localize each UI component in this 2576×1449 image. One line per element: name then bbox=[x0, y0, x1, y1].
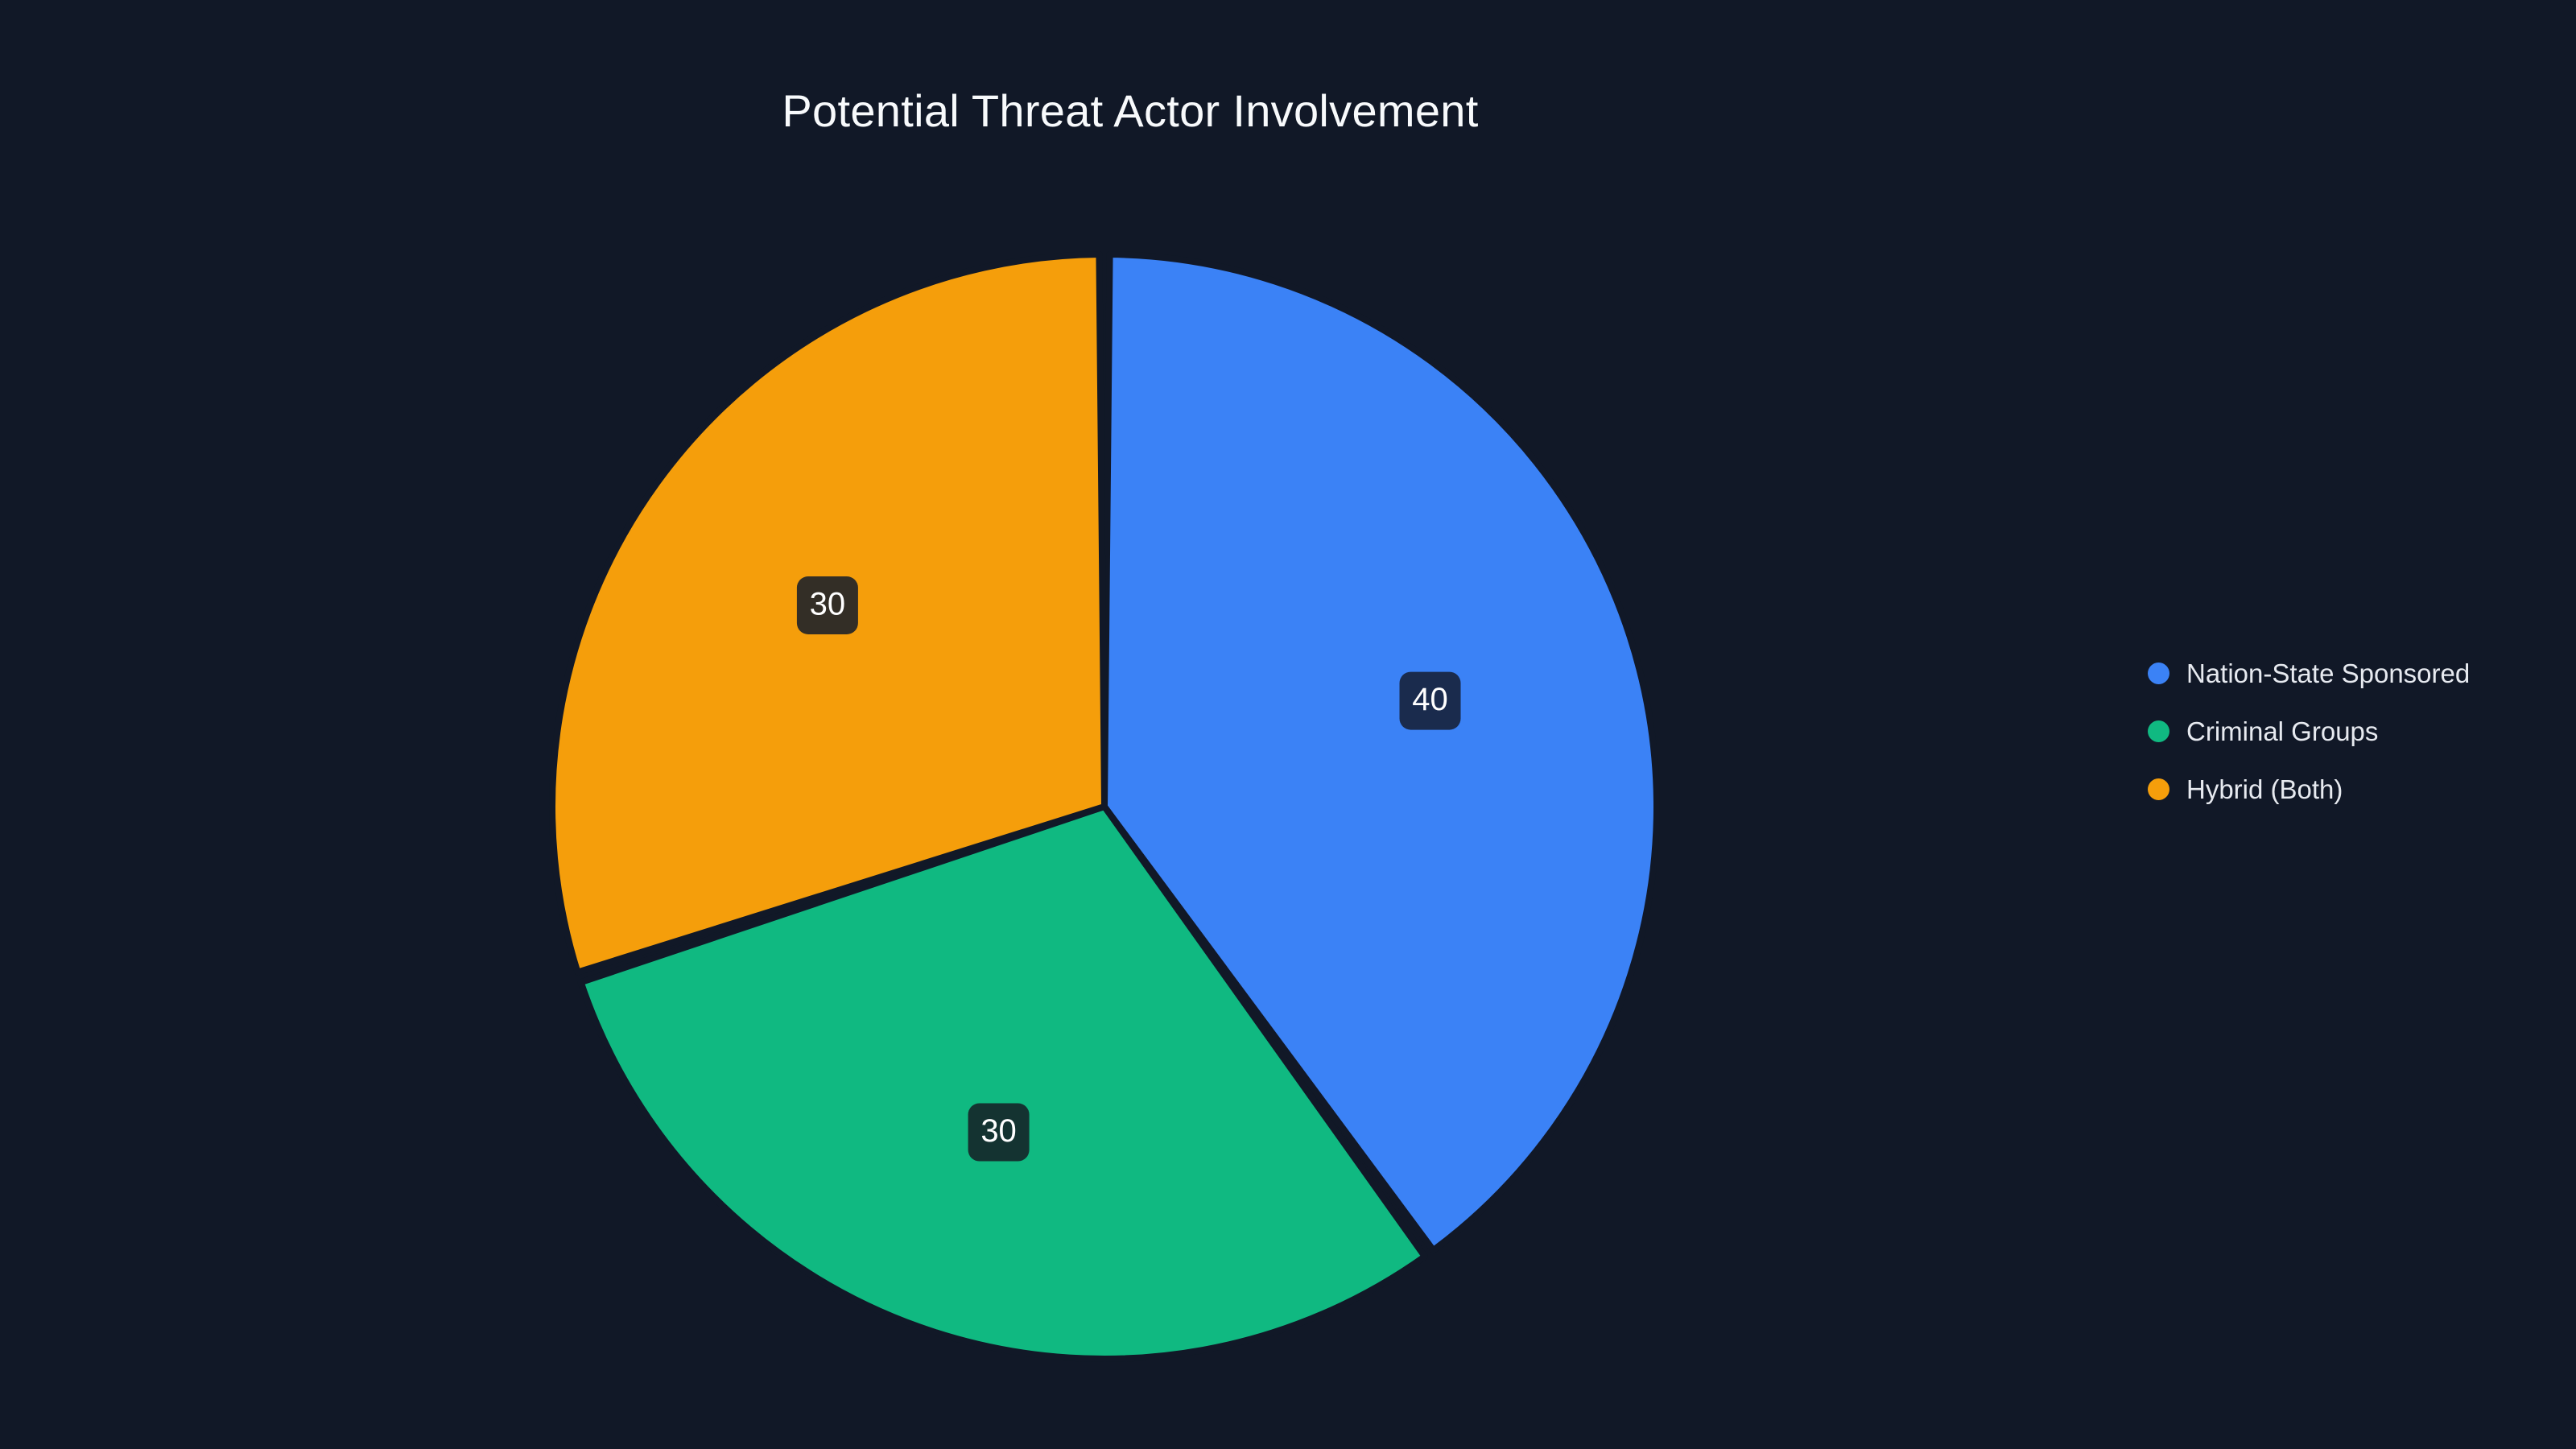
legend-swatch-icon bbox=[2148, 778, 2169, 800]
pie-chart-figure: Potential Threat Actor Involvement 40303… bbox=[0, 0, 2576, 1449]
legend-item-label: Nation-State Sponsored bbox=[2186, 660, 2470, 687]
slice-data-label: 30 bbox=[968, 1104, 1030, 1162]
legend-item-label: Criminal Groups bbox=[2186, 718, 2378, 745]
pie-slices bbox=[552, 254, 1657, 1359]
slice-label-text: 30 bbox=[810, 587, 846, 622]
chart-legend: Nation-State Sponsored Criminal Groups H… bbox=[2148, 644, 2470, 818]
legend-item-hybrid[interactable]: Hybrid (Both) bbox=[2148, 760, 2470, 818]
legend-item-nation-state[interactable]: Nation-State Sponsored bbox=[2148, 644, 2470, 702]
legend-item-criminal-groups[interactable]: Criminal Groups bbox=[2148, 702, 2470, 760]
slice-data-label: 30 bbox=[797, 576, 858, 634]
slice-data-label: 40 bbox=[1400, 672, 1461, 730]
legend-swatch-icon bbox=[2148, 663, 2169, 684]
slice-label-text: 40 bbox=[1412, 682, 1448, 717]
legend-item-label: Hybrid (Both) bbox=[2186, 776, 2343, 803]
legend-swatch-icon bbox=[2148, 720, 2169, 742]
slice-label-text: 30 bbox=[980, 1113, 1017, 1149]
